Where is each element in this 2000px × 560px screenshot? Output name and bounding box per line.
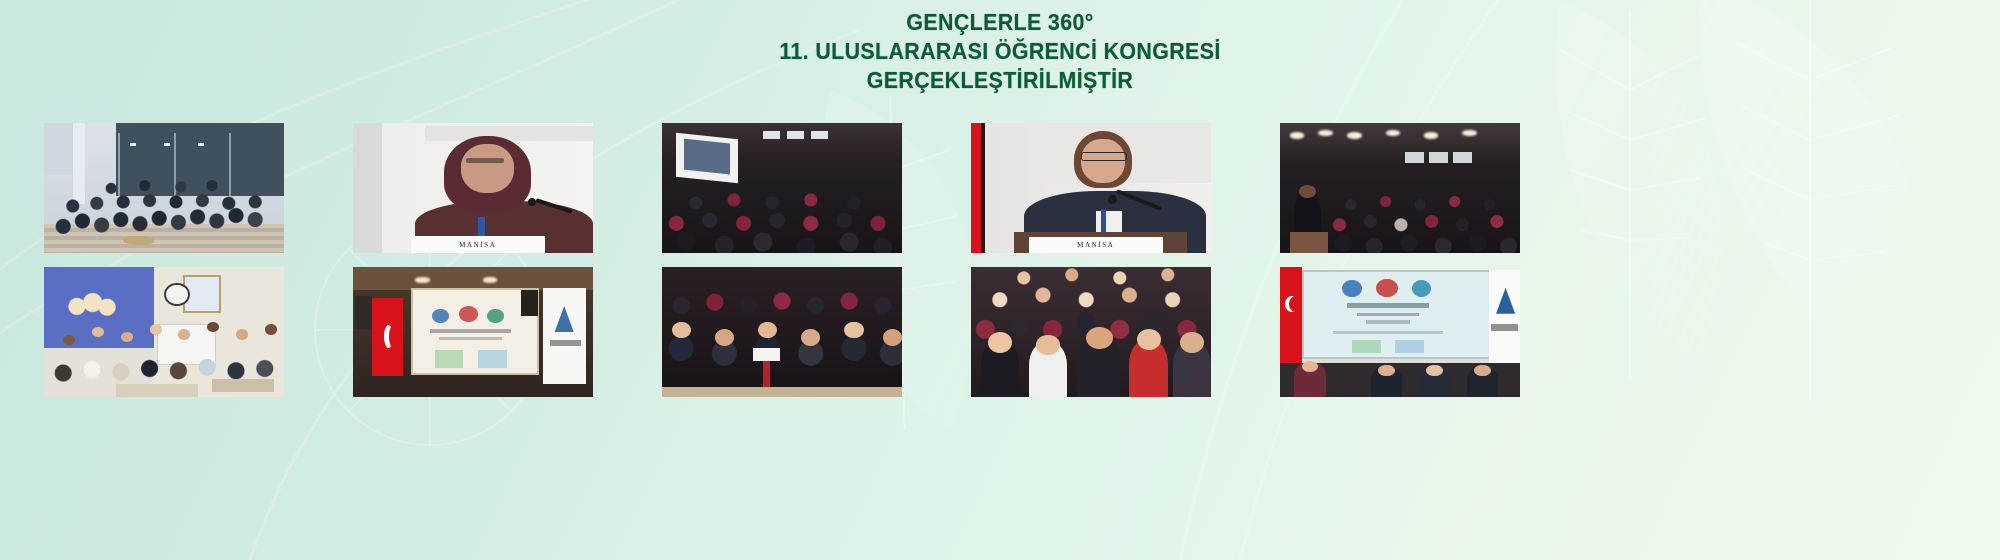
photo-young-audience[interactable]	[971, 267, 1211, 397]
photo-stage-with-flag[interactable]	[353, 267, 593, 397]
title-line-2: 11. ULUSLARARASI ÖĞRENCİ KONGRESİ	[70, 37, 1930, 66]
title-line-1: GENÇLERLE 360°	[70, 8, 1930, 37]
nameplate: MANİSA	[411, 236, 545, 253]
gallery-row-2	[44, 267, 1520, 397]
nameplate-text: MANİSA	[1077, 241, 1114, 249]
photo-opening-session-screen[interactable]	[1280, 267, 1520, 397]
gallery-row-1: MANİSA	[44, 123, 1520, 253]
title-line-3: GERÇEKLEŞTİRİLMİŞTİR	[70, 66, 1930, 95]
photo-students-classroom[interactable]	[44, 267, 284, 397]
photo-speaker-headscarf[interactable]: MANİSA	[353, 123, 593, 253]
photo-gallery: MANİSA	[44, 123, 1520, 397]
photo-speaker-glasses[interactable]: MANİSA	[971, 123, 1211, 253]
photo-front-row-delegates[interactable]	[662, 267, 902, 397]
photo-lecture-hall-wide[interactable]	[1280, 123, 1520, 253]
page-title: GENÇLERLE 360° 11. ULUSLARARASI ÖĞRENCİ …	[0, 8, 2000, 95]
nameplate-text: MANİSA	[459, 241, 496, 249]
nameplate: MANİSA	[1029, 237, 1163, 253]
photo-group-outside-building[interactable]	[44, 123, 284, 253]
photo-auditorium-audience[interactable]	[662, 123, 902, 253]
